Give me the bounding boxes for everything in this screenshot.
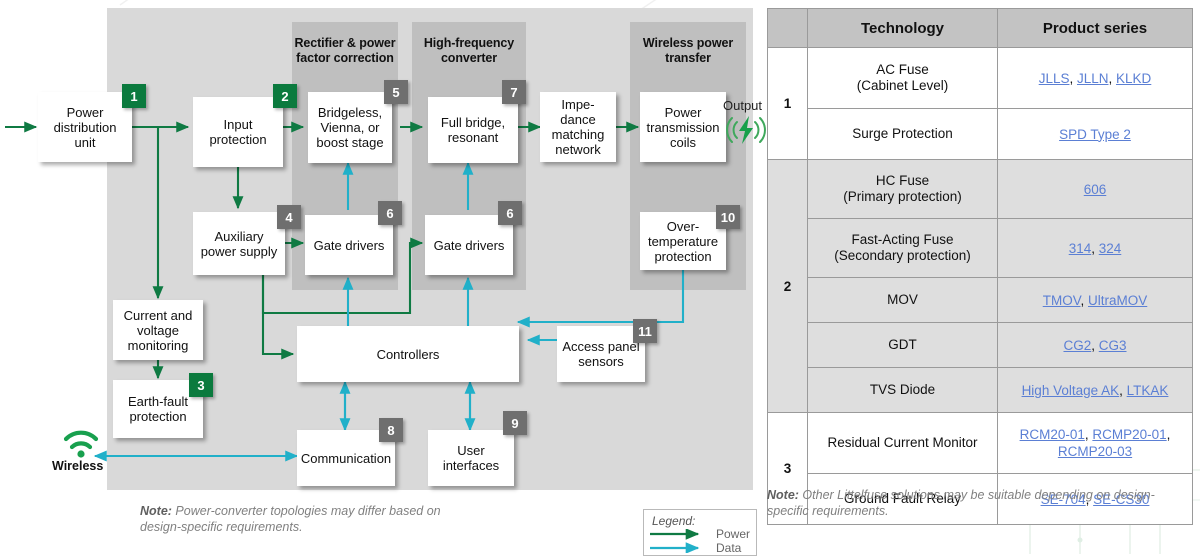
product-link[interactable]: TMOV (1043, 293, 1081, 308)
product-link[interactable]: LTKAK (1127, 383, 1169, 398)
node-label: Over- temperature protection (644, 219, 722, 264)
technology-cell: Surge Protection (808, 109, 998, 160)
product-link[interactable]: CG3 (1099, 338, 1127, 353)
node-label: Input protection (197, 117, 279, 147)
node-label: Gate drivers (434, 238, 505, 253)
node-label: Earth-fault protection (117, 394, 199, 424)
table-row: 1 AC Fuse (Cabinet Level) JLLS, JLLN, KL… (768, 48, 1193, 109)
badge-8: 8 (379, 418, 403, 442)
node-controllers[interactable]: Controllers (297, 326, 519, 382)
node-over-temperature-protection[interactable]: Over- temperature protection (640, 212, 726, 270)
tech-line-2: (Secondary protection) (812, 248, 993, 264)
legend-power-label: Power (716, 527, 750, 541)
node-label: Power distribution unit (42, 105, 128, 150)
product-link[interactable]: UltraMOV (1088, 293, 1147, 308)
page-root: Rectifier & power factor correction High… (0, 0, 1200, 554)
node-user-interfaces[interactable]: User interfaces (428, 430, 514, 486)
product-link[interactable]: KLKD (1116, 71, 1151, 86)
badge-7: 7 (502, 80, 526, 104)
tech-line-1: HC Fuse (812, 173, 993, 189)
table-row: Surge Protection SPD Type 2 (768, 109, 1193, 160)
table-note: Note: Other Littelfuse solutions may be … (767, 487, 1167, 519)
product-link[interactable]: SPD Type 2 (1059, 127, 1131, 142)
legend-data-label: Data (716, 541, 741, 555)
product-link[interactable]: JLLS (1039, 71, 1070, 86)
output-label: Output (723, 98, 762, 113)
product-cell: RCM20-01, RCMP20-01, RCMP20-03 (998, 413, 1193, 474)
product-link[interactable]: 314 (1069, 241, 1092, 256)
legend-box: Legend: Power Data (643, 509, 757, 556)
tech-line-2: (Cabinet Level) (812, 78, 993, 94)
legend-arrows (650, 529, 712, 553)
product-cell: 606 (998, 160, 1193, 219)
product-link[interactable]: JLLN (1077, 71, 1109, 86)
node-full-bridge-resonant[interactable]: Full bridge, resonant (428, 97, 518, 163)
product-table-wrap: Technology Product series 1 AC Fuse (Cab… (767, 8, 1192, 486)
table-header-row: Technology Product series (768, 9, 1193, 48)
product-link[interactable]: RCMP20-01 (1092, 427, 1166, 442)
node-label: User interfaces (432, 443, 510, 473)
diagram-note-prefix: Note: (140, 504, 172, 518)
th-product-series: Product series (998, 9, 1193, 48)
node-label: Impe- dance matching network (544, 97, 612, 157)
product-link[interactable]: 606 (1084, 182, 1107, 197)
node-label: Controllers (377, 347, 440, 362)
product-table: Technology Product series 1 AC Fuse (Cab… (767, 8, 1193, 525)
group-number-2: 2 (768, 160, 808, 413)
node-label: Auxiliary power supply (197, 229, 281, 259)
table-row: Fast-Acting Fuse (Secondary protection) … (768, 219, 1193, 278)
badge-6-a: 6 (378, 201, 402, 225)
table-row: TVS Diode High Voltage AK, LTKAK (768, 368, 1193, 413)
badge-3: 3 (189, 373, 213, 397)
table-row: GDT CG2, CG3 (768, 323, 1193, 368)
tech-line-1: AC Fuse (812, 62, 993, 78)
node-access-panel-sensors[interactable]: Access panel sensors (557, 326, 645, 382)
badge-5: 5 (384, 80, 408, 104)
th-technology: Technology (808, 9, 998, 48)
tech-line-1: Fast-Acting Fuse (812, 232, 993, 248)
wireless-power-output-icon (724, 113, 768, 147)
node-current-voltage-monitoring[interactable]: Current and voltage monitoring (113, 300, 203, 360)
table-row: MOV TMOV, UltraMOV (768, 278, 1193, 323)
product-cell: SPD Type 2 (998, 109, 1193, 160)
badge-11: 11 (633, 319, 657, 343)
product-cell: CG2, CG3 (998, 323, 1193, 368)
technology-cell: AC Fuse (Cabinet Level) (808, 48, 998, 109)
badge-1: 1 (122, 84, 146, 108)
badge-6-b: 6 (498, 201, 522, 225)
node-label: Gate drivers (314, 238, 385, 253)
node-label: Access panel sensors (561, 339, 641, 369)
tech-line-2: (Primary protection) (812, 189, 993, 205)
product-link[interactable]: High Voltage AK (1022, 383, 1120, 398)
technology-cell: Residual Current Monitor (808, 413, 998, 474)
node-power-transmission-coils[interactable]: Power transmission coils (640, 92, 726, 162)
product-link[interactable]: CG2 (1063, 338, 1091, 353)
badge-10: 10 (716, 205, 740, 229)
group-number-1: 1 (768, 48, 808, 160)
product-cell: JLLS, JLLN, KLKD (998, 48, 1193, 109)
th-group (768, 9, 808, 48)
node-power-distribution-unit[interactable]: Power distribution unit (38, 92, 132, 162)
product-cell: TMOV, UltraMOV (998, 278, 1193, 323)
badge-2: 2 (273, 84, 297, 108)
technology-cell: TVS Diode (808, 368, 998, 413)
diagram-note: Note: Power-converter topologies may dif… (140, 503, 450, 535)
technology-cell: MOV (808, 278, 998, 323)
table-row: 2 HC Fuse (Primary protection) 606 (768, 160, 1193, 219)
wireless-signal-icon (62, 428, 100, 460)
product-link[interactable]: RCM20-01 (1020, 427, 1085, 442)
node-input-protection[interactable]: Input protection (193, 97, 283, 167)
node-label: Bridgeless, Vienna, or boost stage (312, 105, 388, 150)
node-label: Current and voltage monitoring (117, 308, 199, 353)
product-cell: High Voltage AK, LTKAK (998, 368, 1193, 413)
node-label: Full bridge, resonant (432, 115, 514, 145)
badge-9: 9 (503, 411, 527, 435)
node-label: Communication (301, 451, 391, 466)
technology-cell: Fast-Acting Fuse (Secondary protection) (808, 219, 998, 278)
technology-cell: HC Fuse (Primary protection) (808, 160, 998, 219)
product-link[interactable]: 324 (1099, 241, 1122, 256)
technology-cell: GDT (808, 323, 998, 368)
legend-title: Legend: (652, 514, 695, 528)
table-note-prefix: Note: (767, 488, 799, 502)
node-auxiliary-power-supply[interactable]: Auxiliary power supply (193, 212, 285, 275)
diagram-note-text: Power-converter topologies may differ ba… (140, 504, 441, 534)
product-link[interactable]: RCMP20-03 (1058, 444, 1132, 459)
product-cell: 314, 324 (998, 219, 1193, 278)
node-label: Power transmission coils (644, 105, 722, 150)
table-row: 3 Residual Current Monitor RCM20-01, RCM… (768, 413, 1193, 474)
node-bridgeless-vienna-boost[interactable]: Bridgeless, Vienna, or boost stage (308, 92, 392, 163)
badge-4: 4 (277, 205, 301, 229)
wireless-label: Wireless (52, 459, 103, 473)
table-note-text: Other Littelfuse solutions may be suitab… (767, 488, 1155, 518)
node-impedance-matching-network[interactable]: Impe- dance matching network (540, 92, 616, 162)
